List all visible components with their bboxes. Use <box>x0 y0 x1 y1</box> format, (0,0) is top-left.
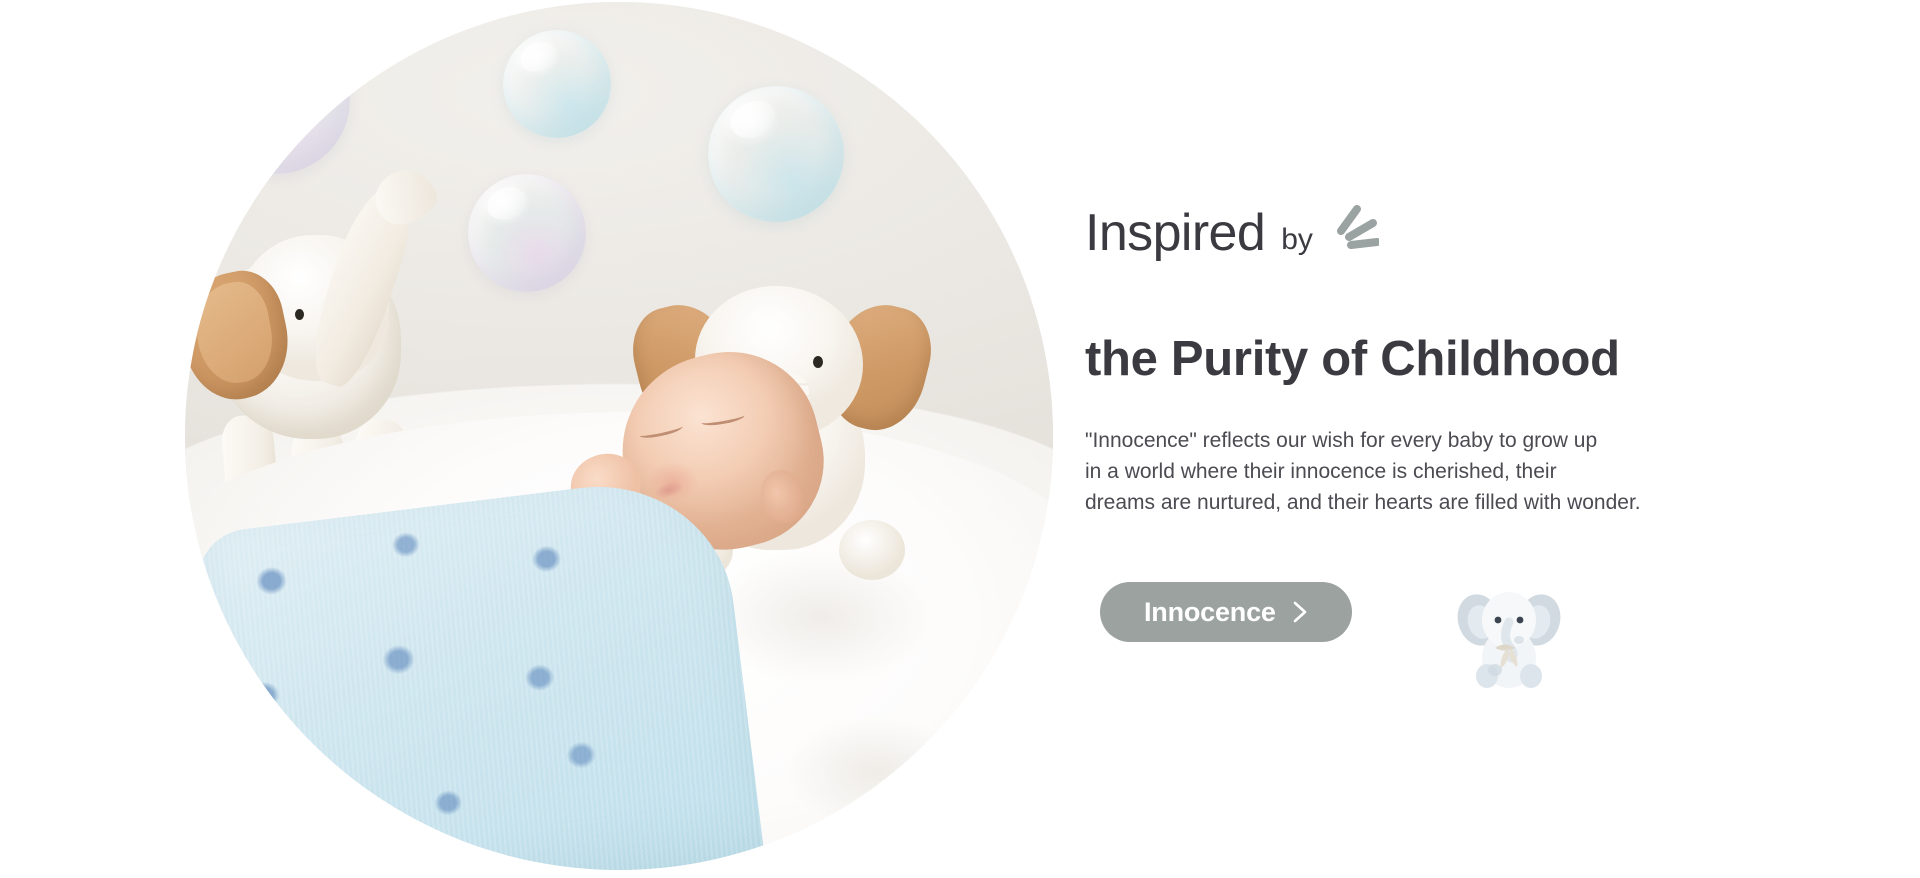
watercolor-elephant-illustration <box>1455 582 1563 692</box>
innocence-button[interactable]: Innocence <box>1100 582 1352 642</box>
elephant-eye <box>813 356 823 368</box>
chevron-right-icon <box>1292 601 1308 623</box>
elephant-eye <box>295 309 304 320</box>
hero-photo-scene <box>185 2 1053 870</box>
eyebrow-by-label: by <box>1281 225 1313 259</box>
blurb-line-1: "Innocence" reflects our wish for every … <box>1085 425 1785 456</box>
blurb-line-3: dreams are nurtured, and their hearts ar… <box>1085 487 1785 518</box>
hero-circle-image <box>185 2 1053 870</box>
soap-bubble <box>503 30 611 138</box>
blurb-line-2: in a world where their innocence is cher… <box>1085 456 1785 487</box>
innocence-button-label: Innocence <box>1144 597 1276 628</box>
elephant-foot <box>839 520 905 580</box>
soap-bubble <box>468 174 586 292</box>
brand-spark-logo <box>1327 205 1379 249</box>
inspired-by-banner: Inspired by the Purity of Childhood "Inn… <box>0 0 1920 878</box>
soap-bubble <box>708 86 844 222</box>
eyebrow-word: Inspired <box>1085 207 1265 259</box>
page-title: the Purity of Childhood <box>1085 333 1620 387</box>
blanket-fold <box>745 692 1005 852</box>
blurb-paragraph: "Innocence" reflects our wish for every … <box>1085 425 1785 518</box>
eyebrow: Inspired by <box>1085 205 1379 259</box>
banner-copy: Inspired by the Purity of Childhood "Inn… <box>1085 0 1885 878</box>
soap-bubble <box>202 26 350 174</box>
cta-row: Innocence <box>1100 582 1352 642</box>
blue-elephant-print-swaddle <box>191 471 765 870</box>
